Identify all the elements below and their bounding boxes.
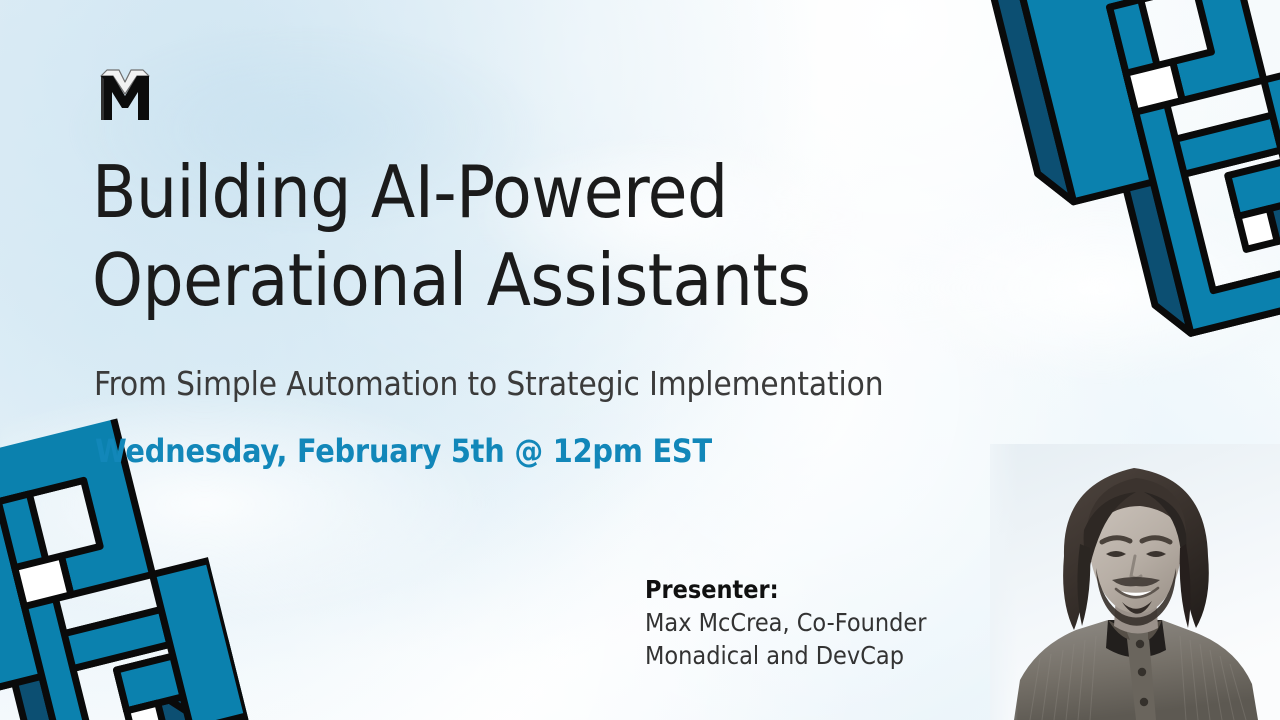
webinar-title-slide: Building AI-Powered Operational Assistan… — [0, 0, 1280, 720]
monadical-m-wordmark-icon — [95, 68, 155, 126]
subtitle: From Simple Automation to Strategic Impl… — [94, 363, 883, 405]
presenter-photo — [990, 444, 1280, 720]
title-line-2: Operational Assistants — [92, 236, 952, 324]
page-title: Building AI-Powered Operational Assistan… — [92, 148, 952, 324]
title-line-1: Building AI-Powered — [92, 148, 952, 236]
presenter-name-role: Max McCrea, Co-Founder — [645, 606, 985, 639]
event-datetime: Wednesday, February 5th @ 12pm EST — [95, 430, 712, 472]
presenter-label: Presenter: — [645, 573, 985, 606]
presenter-company: Monadical and DevCap — [645, 639, 985, 672]
presenter-block: Presenter: Max McCrea, Co-Founder Monadi… — [645, 573, 985, 672]
